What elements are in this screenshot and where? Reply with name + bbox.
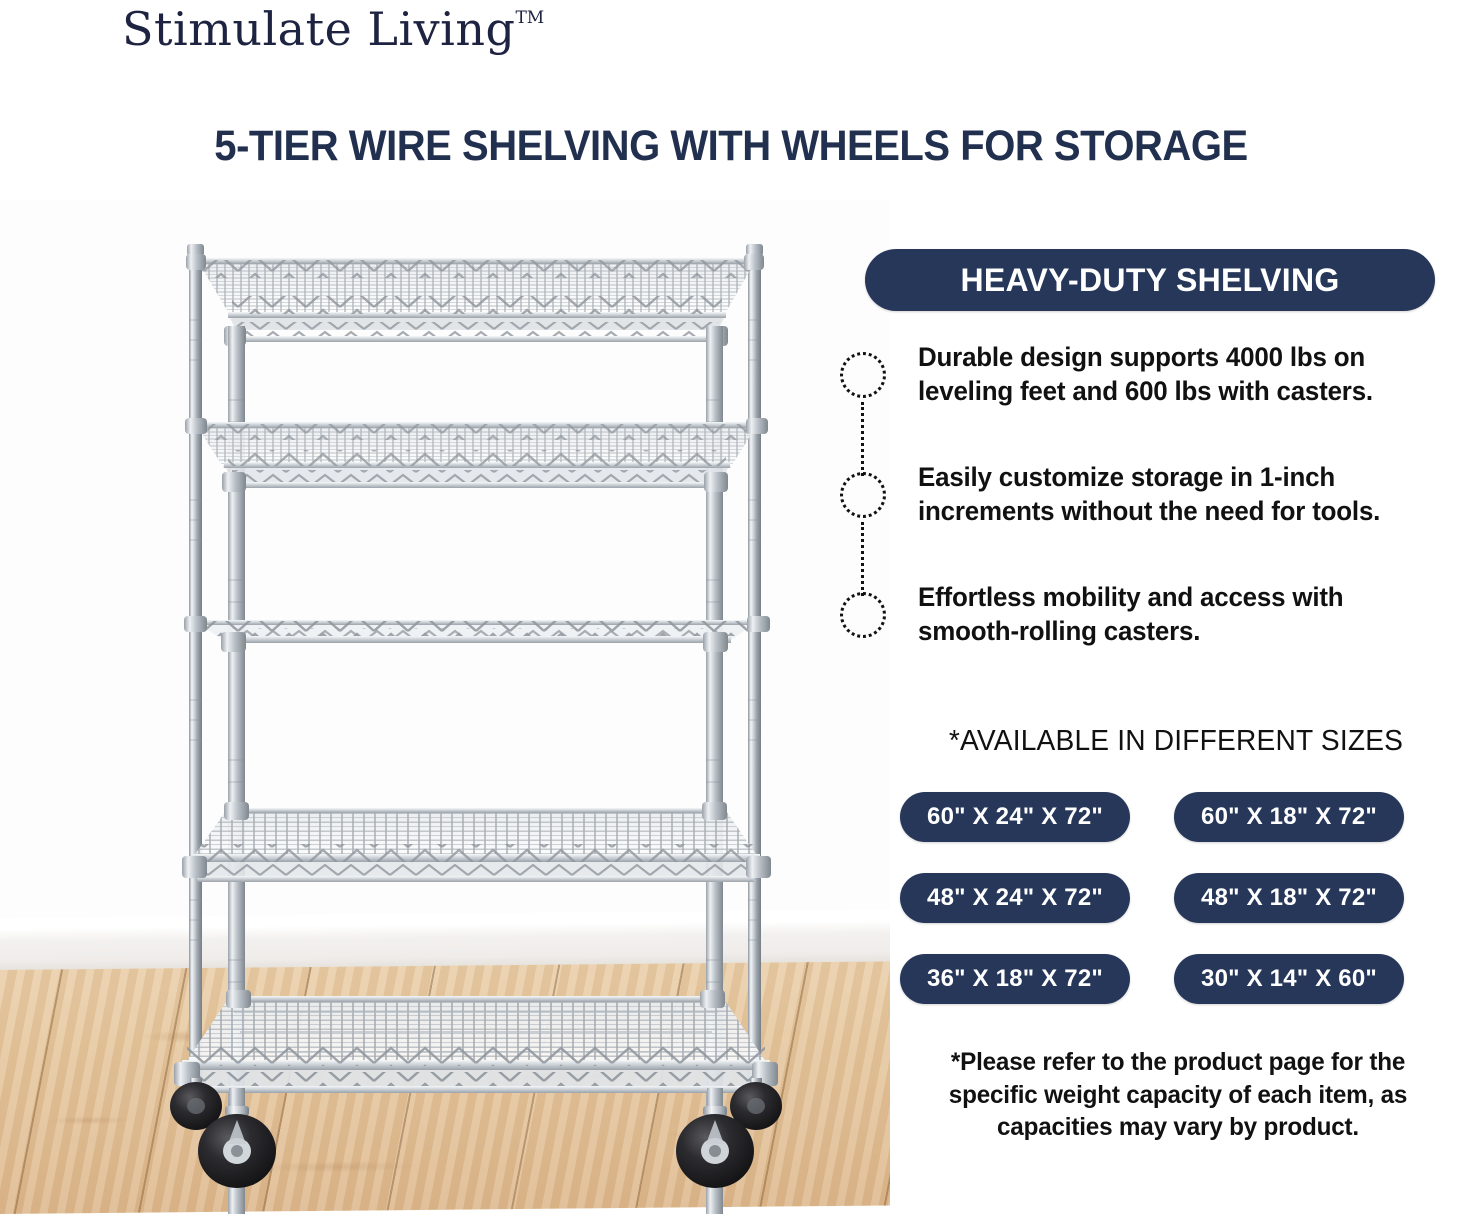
feature-bullet-1-text: Durable design supports 4000 lbs on leve… <box>918 340 1443 408</box>
dotted-circle-icon <box>840 352 886 398</box>
shelf-tier-5 <box>174 990 778 1093</box>
dotted-circle-icon <box>840 472 886 518</box>
product-photo <box>0 200 890 1214</box>
shelf-tier-1 <box>186 254 764 346</box>
size-option-36x18x72[interactable]: 36" X 18" X 72" <box>900 954 1130 1004</box>
feature-bullet-3-text: Effortless mobility and access with smoo… <box>918 580 1443 648</box>
trademark-symbol: TM <box>515 8 544 28</box>
capacity-footnote: *Please refer to the product page for th… <box>916 1046 1440 1144</box>
size-option-60x18x72[interactable]: 60" X 18" X 72" <box>1174 792 1404 842</box>
size-option-48x24x72[interactable]: 48" X 24" X 72" <box>900 873 1130 923</box>
features-panel: HEAVY-DUTY SHELVING Durable design suppo… <box>890 200 1462 1214</box>
available-sizes-title: *AVAILABLE IN DIFFERENT SIZES <box>899 725 1454 758</box>
shelf-tier-4 <box>182 802 771 882</box>
feature-bullet-list: Durable design supports 4000 lbs on leve… <box>840 340 1462 700</box>
size-option-48x18x72[interactable]: 48" X 18" X 72" <box>1174 873 1404 923</box>
brand-logo: Stimulate LivingTM <box>122 2 544 56</box>
size-options-grid: 60" X 24" X 72" 60" X 18" X 72" 48" X 24… <box>900 792 1452 1004</box>
feature-bullet-3: Effortless mobility and access with smoo… <box>840 580 1462 672</box>
feature-bullet-2-text: Easily customize storage in 1-inch incre… <box>918 460 1443 528</box>
shelf-tier-2 <box>185 418 768 492</box>
brand-name: Stimulate Living <box>122 2 515 56</box>
dotted-circle-icon <box>840 592 886 638</box>
shelf-tier-3 <box>184 616 770 652</box>
heavy-duty-shelving-badge: HEAVY-DUTY SHELVING <box>865 249 1435 311</box>
size-option-30x14x60[interactable]: 30" X 14" X 60" <box>1174 954 1404 1004</box>
rear-posts <box>187 244 763 1081</box>
size-option-60x24x72[interactable]: 60" X 24" X 72" <box>900 792 1130 842</box>
page-title: 5-TIER WIRE SHELVING WITH WHEELS FOR STO… <box>51 122 1411 171</box>
wire-shelving-unit <box>0 200 890 1214</box>
feature-bullet-1: Durable design supports 4000 lbs on leve… <box>840 340 1462 432</box>
feature-bullet-2: Easily customize storage in 1-inch incre… <box>840 460 1462 552</box>
